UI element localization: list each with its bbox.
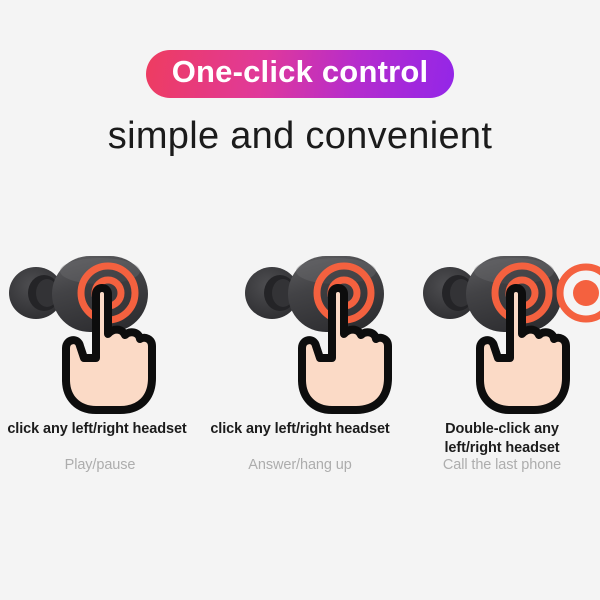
page-subtitle: simple and convenient xyxy=(0,115,600,158)
caption-main-2: click any left/right headset xyxy=(200,420,400,439)
caption-sub-2: Answer/hang up xyxy=(200,457,400,473)
feature-columns: click any left/right headset Play/pause xyxy=(0,238,600,420)
feature-column-play-pause: click any left/right headset Play/pause xyxy=(0,238,200,420)
caption-block-3: Double-click any left/right headset Call… xyxy=(400,420,600,457)
earbud-illustration-2 xyxy=(200,238,400,420)
earbud-double-tap-icon xyxy=(418,238,600,420)
earbud-tap-icon xyxy=(228,238,428,420)
caption-sub-1: Play/pause xyxy=(0,457,200,473)
caption-main-1: click any left/right headset xyxy=(0,420,197,439)
caption-block-2: click any left/right headset Answer/hang… xyxy=(200,420,400,439)
caption-sub-3: Call the last phone xyxy=(402,457,600,473)
feature-column-call-last-phone: Double-click any left/right headset Call… xyxy=(400,238,600,420)
header: One-click control simple and convenient xyxy=(0,0,600,158)
caption-block-1: click any left/right headset Play/pause xyxy=(0,420,200,439)
feature-column-answer-hangup: click any left/right headset Answer/hang… xyxy=(200,238,400,420)
page-title-banner: One-click control xyxy=(146,50,455,98)
caption-main-3-line1: Double-click any xyxy=(445,421,559,437)
earbud-tap-icon xyxy=(0,238,192,420)
earbud-illustration-3 xyxy=(400,238,600,420)
earbud-illustration-1 xyxy=(0,238,200,420)
double-tap-indicator-icon xyxy=(560,267,600,319)
caption-main-3: Double-click any left/right headset xyxy=(402,420,600,457)
caption-main-3-line2: left/right headset xyxy=(444,440,559,456)
